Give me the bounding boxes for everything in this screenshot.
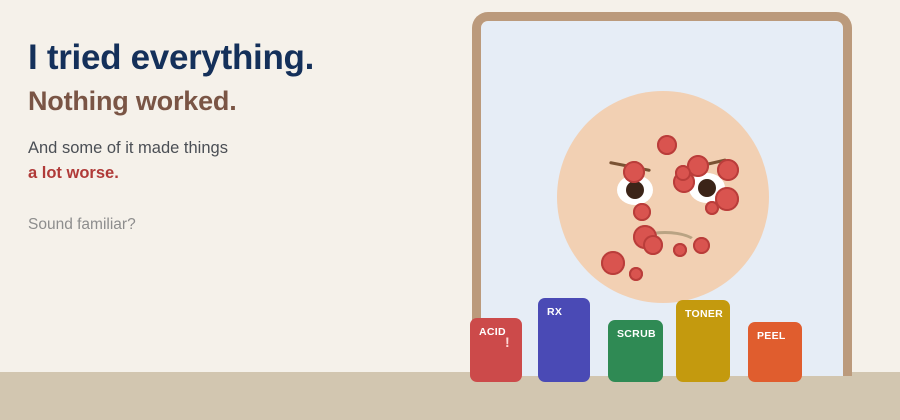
body-copy: And some of it made things a lot worse.	[28, 136, 448, 186]
product-label: SCRUB	[617, 328, 656, 340]
warning-icon: !	[505, 335, 510, 349]
product-bottle-scrub[interactable]: SCRUB	[608, 320, 663, 382]
scene-root: I tried everything. Nothing worked. And …	[0, 0, 900, 420]
product-label: PEEL	[757, 330, 786, 342]
product-bottle-acid[interactable]: ACID!	[470, 318, 522, 382]
prompt-text: Sound familiar?	[28, 214, 448, 236]
page-subtitle: Nothing worked.	[28, 84, 448, 118]
product-bottle-rx[interactable]: RX	[538, 298, 590, 382]
product-label: ACID	[479, 326, 506, 338]
product-label: TONER	[685, 308, 723, 320]
copy-column: I tried everything. Nothing worked. And …	[28, 36, 448, 236]
product-label: RX	[547, 306, 562, 318]
page-title: I tried everything.	[28, 36, 448, 80]
product-bottle-peel[interactable]: PEEL	[748, 322, 802, 382]
body-line-1: And some of it made things	[28, 139, 228, 157]
body-line-2-emphasis: a lot worse.	[28, 161, 448, 186]
product-bottle-toner[interactable]: TONER	[676, 300, 730, 382]
